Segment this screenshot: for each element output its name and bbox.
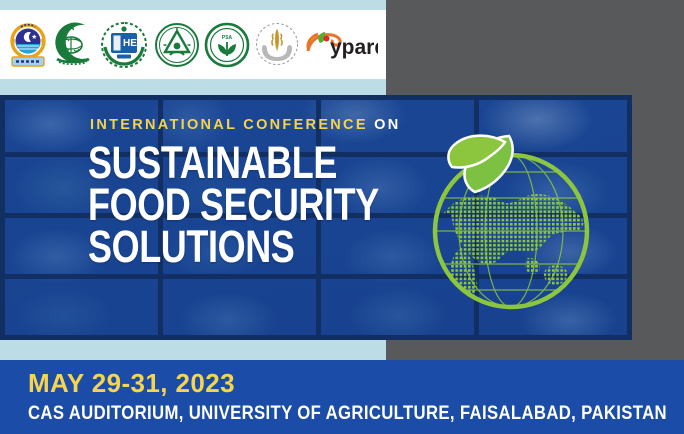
title-line-1: SUSTAINABLE xyxy=(88,142,352,184)
kicker-on: ON xyxy=(374,117,400,133)
sponsor-logo-strip: HEc PSA xyxy=(0,0,386,95)
government-of-punjab-emblem xyxy=(8,19,48,71)
title-line-3: SOLUTIONS xyxy=(88,226,352,268)
conference-venue: CAS AUDITORIUM, UNIVERSITY OF AGRICULTUR… xyxy=(28,404,667,423)
poster-footer: MAY 29-31, 2023 CAS AUDITORIUM, UNIVERSI… xyxy=(0,360,684,434)
title-line-2: FOOD SECURITY xyxy=(88,184,352,226)
kicker-main: INTERNATIONAL CONFERENCE xyxy=(90,117,368,133)
ypard-logo: ypard xyxy=(304,27,378,63)
university-of-agriculture-faisalabad-logo xyxy=(154,22,200,68)
kicker-line: INTERNATIONAL CONFERENCE ON xyxy=(90,118,418,133)
conference-date: MAY 29-31, 2023 xyxy=(28,370,235,396)
globe-leaf-emblem xyxy=(405,118,613,323)
society-of-young-agronomists-logo xyxy=(254,20,300,70)
svg-text:PSA: PSA xyxy=(222,35,233,41)
government-of-pakistan-emblem xyxy=(52,19,94,71)
conference-poster: HEc PSA xyxy=(0,0,684,434)
svg-text:ypard: ypard xyxy=(330,36,378,59)
light-blue-divider-band xyxy=(0,340,386,360)
headline-block: INTERNATIONAL CONFERENCE ON SUSTAINABLE … xyxy=(88,118,418,268)
svg-text:HEc: HEc xyxy=(123,38,143,49)
pakistan-society-of-agronomy-logo: PSA xyxy=(204,22,250,68)
higher-education-commission-logo: HEc xyxy=(98,19,150,71)
